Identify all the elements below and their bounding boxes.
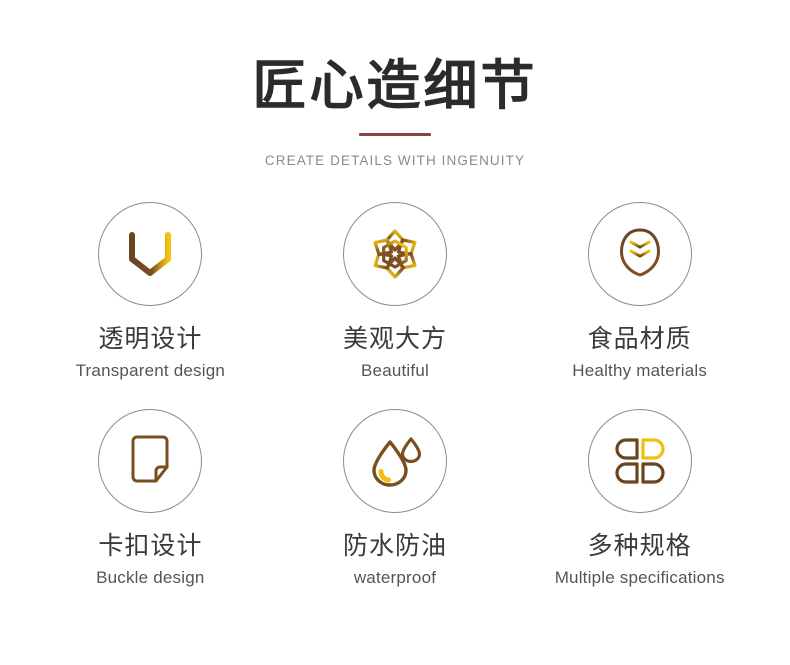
feature-item-buckle-design: 卡扣设计 Buckle design [28, 409, 273, 588]
star-rosette-icon [364, 223, 426, 285]
feature-title-en: waterproof [354, 568, 436, 588]
feature-item-transparent-design: 透明设计 Transparent design [28, 202, 273, 381]
feature-title-en: Healthy materials [572, 361, 707, 381]
feature-title-cn: 美观大方 [343, 324, 447, 354]
feature-title-en: Multiple specifications [555, 568, 725, 588]
feature-title-cn: 多种规格 [588, 531, 692, 561]
feature-title-en: Beautiful [361, 361, 429, 381]
feature-title-cn: 食品材质 [588, 324, 692, 354]
icon-circle [98, 202, 202, 306]
feature-grid: 透明设计 Transparent design [0, 202, 790, 589]
page-header: 匠心造细节 CREATE DETAILS WITH INGENUITY [0, 0, 790, 168]
feature-title-cn: 防水防油 [343, 531, 447, 561]
title-divider [359, 133, 431, 136]
icon-circle [588, 409, 692, 513]
feature-title-cn: 透明设计 [98, 324, 202, 354]
feature-item-beautiful: 美观大方 Beautiful [273, 202, 518, 381]
promo-feature-page: 匠心造细节 CREATE DETAILS WITH INGENUITY [0, 0, 790, 665]
feature-item-healthy-materials: 食品材质 Healthy materials [517, 202, 762, 381]
page-subtitle: CREATE DETAILS WITH INGENUITY [0, 153, 790, 168]
water-droplets-icon [364, 430, 426, 492]
transparent-container-icon [119, 223, 181, 285]
feature-title-cn: 卡扣设计 [98, 531, 202, 561]
icon-circle [343, 409, 447, 513]
page-title: 匠心造细节 [0, 55, 790, 117]
feature-item-multiple-specifications: 多种规格 Multiple specifications [517, 409, 762, 588]
feature-title-en: Transparent design [76, 361, 225, 381]
icon-circle [98, 409, 202, 513]
four-petal-clover-icon [609, 430, 671, 492]
folded-page-icon [119, 430, 181, 492]
icon-circle [343, 202, 447, 306]
feature-item-waterproof: 防水防油 waterproof [273, 409, 518, 588]
leaf-tree-icon [609, 223, 671, 285]
feature-title-en: Buckle design [96, 568, 204, 588]
icon-circle [588, 202, 692, 306]
